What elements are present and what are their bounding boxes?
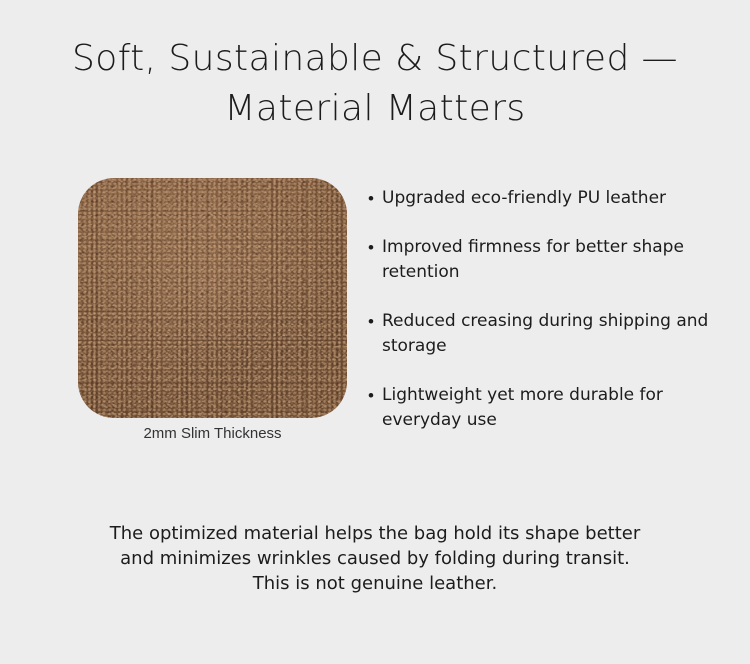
bullet-icon: • bbox=[368, 383, 382, 408]
footer-line-2: and minimizes wrinkles caused by folding… bbox=[0, 546, 750, 571]
list-item: • Reduced creasing during shipping and s… bbox=[368, 309, 742, 359]
footer-paragraph: The optimized material helps the bag hol… bbox=[0, 521, 750, 596]
leather-texture bbox=[78, 178, 347, 418]
page-title-line-1: Soft, Sustainable & Structured — bbox=[0, 34, 750, 84]
leather-vignette bbox=[78, 178, 347, 418]
swatch-caption: 2mm Slim Thickness bbox=[78, 425, 347, 442]
bullet-icon: • bbox=[368, 309, 382, 334]
bullet-icon: • bbox=[368, 235, 382, 260]
footer-line-3: This is not genuine leather. bbox=[0, 571, 750, 596]
page-title: Soft, Sustainable & Structured — Materia… bbox=[0, 34, 750, 134]
bullet-icon: • bbox=[368, 186, 382, 211]
feature-text: Improved firmness for better shape reten… bbox=[382, 235, 742, 285]
feature-text: Reduced creasing during shipping and sto… bbox=[382, 309, 742, 359]
footer-line-1: The optimized material helps the bag hol… bbox=[0, 521, 750, 546]
leather-swatch-image bbox=[78, 178, 347, 418]
feature-text: Lightweight yet more durable for everyda… bbox=[382, 383, 742, 433]
list-item: • Improved firmness for better shape ret… bbox=[368, 235, 742, 285]
feature-text: Upgraded eco-friendly PU leather bbox=[382, 186, 742, 211]
page-title-line-2: Material Matters bbox=[0, 84, 750, 134]
feature-list: • Upgraded eco-friendly PU leather • Imp… bbox=[368, 186, 742, 457]
material-info-graphic: Soft, Sustainable & Structured — Materia… bbox=[0, 0, 750, 664]
list-item: • Lightweight yet more durable for every… bbox=[368, 383, 742, 433]
list-item: • Upgraded eco-friendly PU leather bbox=[368, 186, 742, 211]
